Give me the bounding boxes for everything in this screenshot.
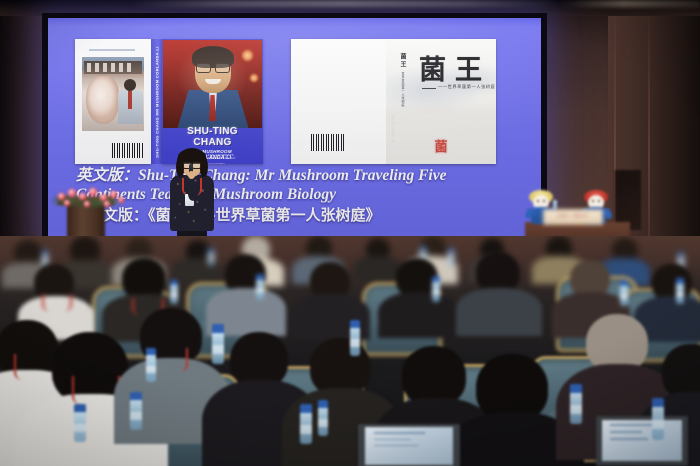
water-bottle	[318, 400, 328, 436]
water-bottle	[130, 392, 142, 430]
water-bottle	[256, 274, 264, 300]
water-bottle	[432, 276, 440, 302]
book-chinese-authors-vertical: 李晓琳 陈克宁 著	[391, 115, 395, 143]
barcode	[311, 134, 345, 151]
portrait-glasses	[196, 63, 230, 71]
book-english-front-cover: SHU-TING CHANG MR MUSHROOM TRAVELING FIV…	[162, 39, 263, 164]
laptop[interactable]	[358, 424, 460, 466]
water-bottle	[300, 404, 312, 444]
flower-arrangement	[52, 183, 126, 209]
mascot-eye	[598, 200, 600, 202]
water-bottle	[212, 324, 224, 364]
book-chinese-authors: 李晓琳 陈克宁	[386, 108, 496, 114]
portrait-light	[250, 74, 258, 82]
book-chinese-band: 李晓琳 陈克宁 李晓琳 陈克宁 著 菌	[386, 102, 496, 164]
book-chinese-front-cover: 菌 王 世界草菌第一人张树庭 菌王 ——世界草菌第一人张树庭 李晓琳 陈克宁 李…	[386, 39, 496, 164]
photo-person-head	[124, 79, 136, 91]
water-bottle	[146, 348, 156, 382]
portrait-smile	[205, 79, 221, 84]
laptop[interactable]	[596, 416, 688, 466]
conference-photo: SHU-TING CHANG MR MUSHROOM CORLANDA LI S…	[0, 0, 700, 466]
photo-mushroom-cluster	[86, 76, 119, 124]
laptop-screen	[365, 427, 453, 465]
water-bottle	[208, 248, 214, 266]
book-chinese-title: 菌王	[419, 57, 491, 84]
photo-person-tie	[128, 91, 132, 109]
book-chinese-spine-title: 菌 王	[398, 53, 406, 67]
photo-building	[84, 61, 142, 74]
cover-portrait	[163, 40, 262, 128]
lanyard	[72, 376, 120, 404]
slide-line-1: 英文版：Shu-Ting Chang: Mr Mushroom Travelin…	[76, 166, 541, 185]
speaker-hair-right	[200, 157, 208, 177]
book-chinese: 菌 王 世界草菌第一人张树庭 菌王 ——世界草菌第一人张树庭 李晓琳 陈克宁 李…	[291, 39, 496, 164]
ceiling-light-glow	[560, 0, 700, 7]
audience-area	[0, 236, 700, 466]
book-chinese-subtitle: ——世界草菌第一人张树庭	[438, 84, 495, 90]
book-title-line1: SHU-TING	[162, 127, 263, 137]
ceiling-light-glow	[130, 0, 560, 7]
water-bottle	[570, 384, 582, 424]
barcode	[112, 143, 144, 158]
slide-line-2: Continents Teaching Mushroom Biology	[76, 185, 541, 204]
water-bottle	[350, 320, 360, 356]
water-bottle	[448, 248, 454, 266]
water-bottle	[170, 280, 178, 304]
book-title-line2: CHANG	[162, 138, 263, 148]
speaker-hand	[188, 171, 195, 179]
lanyard	[42, 294, 72, 312]
cover-photo	[82, 57, 144, 131]
wall-recess	[615, 170, 641, 230]
water-bottle	[652, 398, 664, 440]
book-english-spine: SHU-TING CHANG MR MUSHROOM CORLANDA LI	[151, 39, 162, 164]
title-rule	[422, 88, 436, 89]
book-english-back-cover	[75, 39, 151, 164]
book-chinese-seal: 菌	[434, 136, 447, 155]
head-table-name-sign: 主持人 陈克宁	[543, 209, 603, 225]
portrait-light	[242, 50, 253, 61]
water-bottle	[620, 280, 628, 306]
book-spine-text: SHU-TING CHANG MR MUSHROOM CORLANDA LI	[154, 46, 159, 158]
water-bottle	[74, 404, 86, 442]
mascot-eye	[537, 200, 539, 202]
water-bottle	[676, 278, 684, 304]
head-table-sign-text: 主持人 陈克宁	[544, 213, 602, 219]
mascot-eye	[592, 200, 594, 202]
laptop-screen	[602, 420, 681, 461]
slide-top-band	[48, 18, 541, 27]
mascot-eye	[543, 200, 545, 202]
cover-rule	[89, 49, 135, 51]
